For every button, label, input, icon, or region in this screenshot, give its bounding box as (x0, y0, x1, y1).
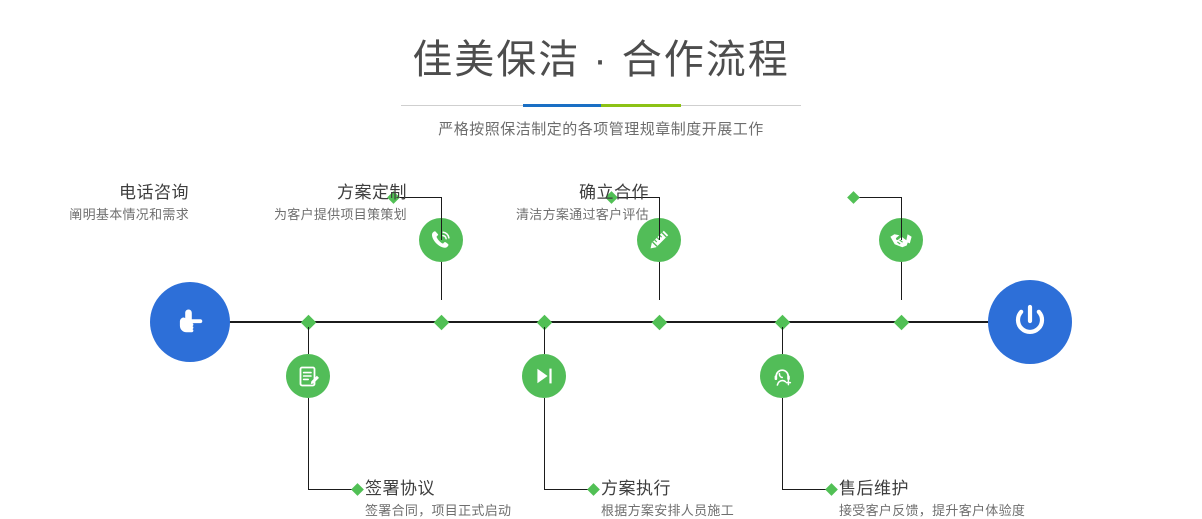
step-4-title: 方案执行 (601, 479, 734, 499)
page-title: 佳美保洁 · 合作流程 (0, 0, 1202, 82)
label-connector-v (544, 398, 545, 489)
label-connector-v (782, 398, 783, 489)
label-connector-h (854, 197, 901, 198)
step-4-label: 方案执行 根据方案安排人员施工 (601, 479, 734, 519)
label-connector-h (782, 489, 829, 490)
axis-diamond (433, 314, 449, 330)
headset-user-add-icon (770, 364, 795, 389)
label-connector-h (308, 489, 355, 490)
label-connector-diamond (825, 483, 838, 496)
process-timeline: 电话咨询 阐明基本情况和需求 签署协议 (0, 150, 1202, 502)
step-1-title: 电话咨询 (69, 183, 189, 203)
label-connector-diamond (587, 483, 600, 496)
header: 佳美保洁 · 合作流程 严格按照保洁制定的各项管理规章制度开展工作 (0, 0, 1202, 139)
step-6-desc: 接受客户反馈，提升客户体验度 (839, 499, 1025, 519)
step-2-label: 签署协议 签署合同，项目正式启动 (365, 479, 511, 519)
divider-green-segment (601, 104, 681, 107)
step-6-title: 售后维护 (839, 479, 1025, 499)
axis-diamond (893, 314, 909, 330)
step-2-desc: 签署合同，项目正式启动 (365, 499, 511, 519)
title-divider (401, 104, 801, 107)
step-1-label: 电话咨询 阐明基本情况和需求 (69, 183, 189, 223)
step-4-icon-bubble[interactable] (522, 354, 566, 398)
document-edit-icon (296, 364, 321, 389)
step-3-label: 方案定制 为客户提供项目策策划 (274, 183, 407, 223)
timeline-end-node (988, 280, 1072, 364)
label-connector-diamond (847, 191, 860, 204)
timeline-start-node (150, 282, 230, 362)
play-to-end-icon (532, 364, 556, 388)
node-stem (782, 327, 783, 354)
label-connector-v (441, 197, 442, 240)
label-connector-diamond (351, 483, 364, 496)
label-connector-v (308, 398, 309, 489)
step-5-title: 确立合作 (516, 183, 649, 203)
label-connector-v (659, 197, 660, 240)
step-2-title: 签署协议 (365, 479, 511, 499)
step-3-title: 方案定制 (274, 183, 407, 203)
power-icon (1006, 298, 1054, 346)
step-4-desc: 根据方案安排人员施工 (601, 499, 734, 519)
node-stem (544, 327, 545, 354)
step-3-desc: 为客户提供项目策策划 (274, 203, 407, 223)
step-2-icon-bubble[interactable] (286, 354, 330, 398)
page-subtitle: 严格按照保洁制定的各项管理规章制度开展工作 (0, 107, 1202, 139)
step-6-icon-bubble[interactable] (760, 354, 804, 398)
node-stem (308, 327, 309, 354)
label-connector-v (901, 197, 902, 240)
label-connector-h (544, 489, 591, 490)
step-1-desc: 阐明基本情况和需求 (69, 203, 189, 223)
axis-diamond (651, 314, 667, 330)
flow-infographic: 佳美保洁 · 合作流程 严格按照保洁制定的各项管理规章制度开展工作 (0, 0, 1202, 502)
step-5-desc: 清洁方案通过客户评估 (516, 203, 649, 223)
step-6-label: 售后维护 接受客户反馈，提升客户体验度 (839, 479, 1025, 519)
divider-blue-segment (523, 104, 601, 107)
step-5-label: 确立合作 清洁方案通过客户评估 (516, 183, 649, 223)
pointing-hand-icon (168, 300, 212, 344)
